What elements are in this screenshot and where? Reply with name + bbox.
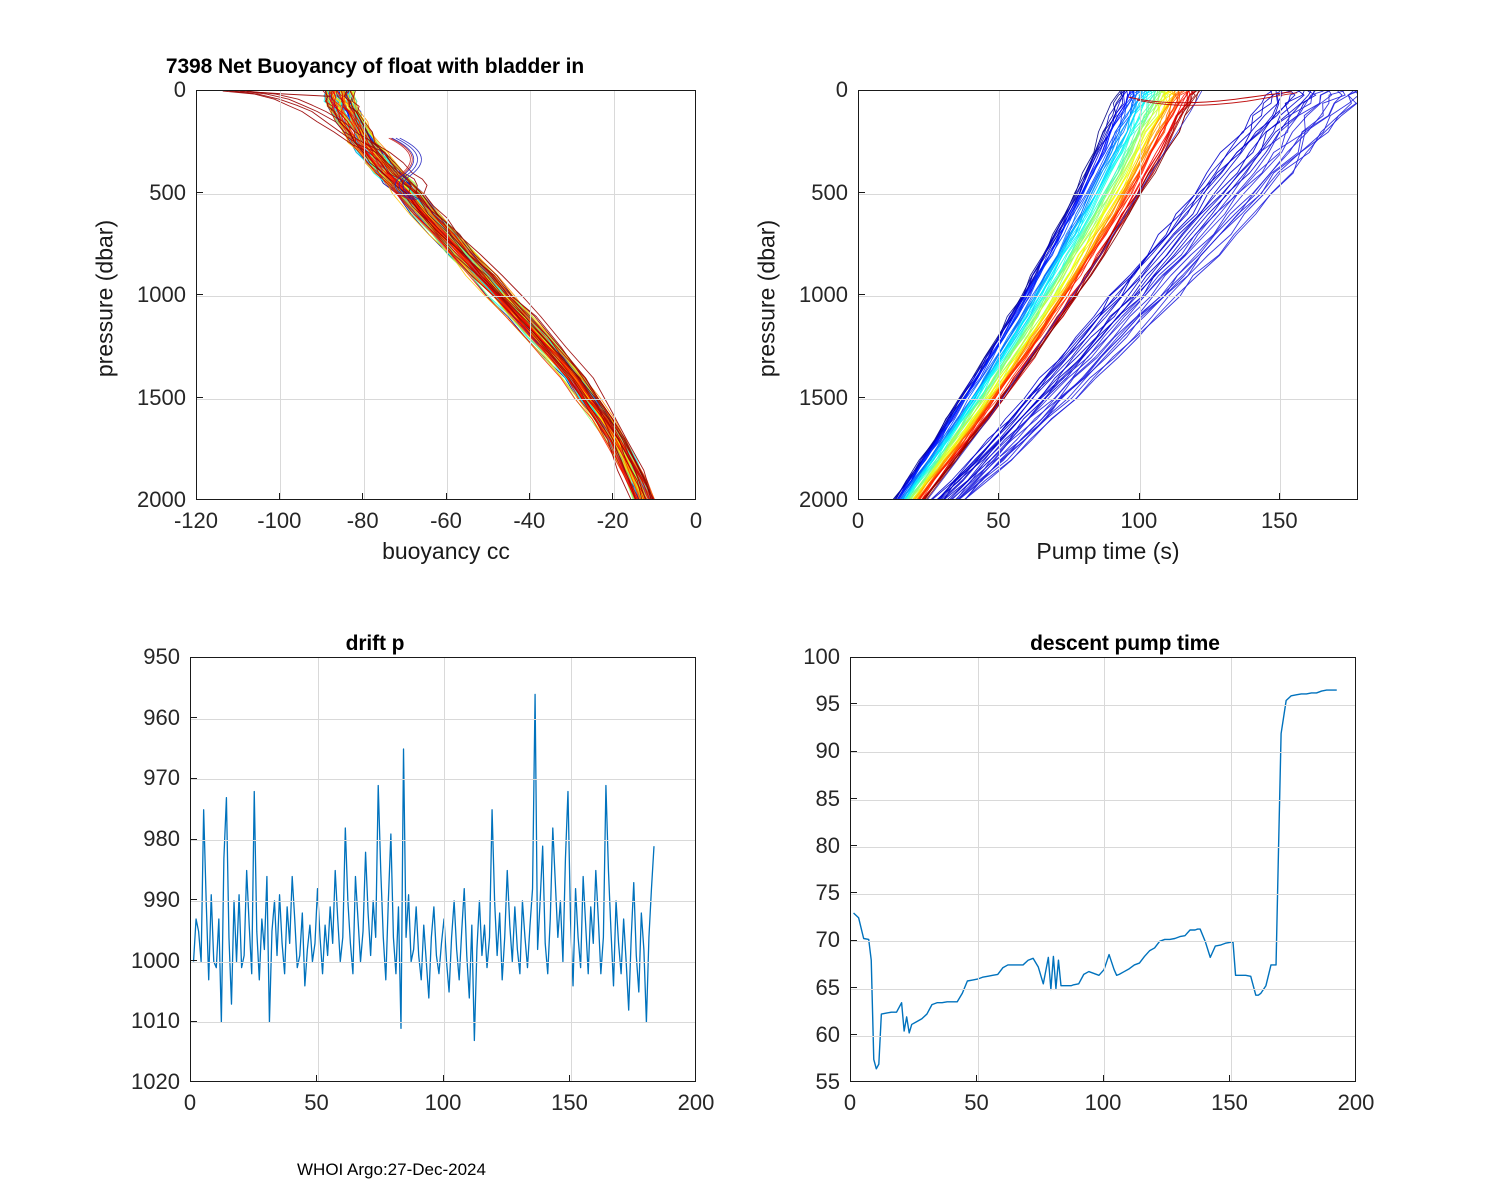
x-tick-label: 150: [1211, 1090, 1248, 1116]
tick-mark: [190, 778, 197, 779]
gridline-vertical: [530, 91, 531, 499]
y-tick-label: 990: [90, 887, 180, 913]
net-buoyancy-title: 7398 Net Buoyancy of float with bladder …: [0, 55, 800, 79]
x-tick-label: 50: [964, 1090, 988, 1116]
tick-mark: [190, 839, 197, 840]
tick-mark: [190, 960, 197, 961]
y-tick-label: 1010: [90, 1008, 180, 1034]
y-tick-label: 1020: [90, 1069, 180, 1095]
tick-mark: [850, 940, 857, 941]
gridline-horizontal: [851, 800, 1355, 801]
y-tick-label: 80: [760, 833, 840, 859]
tick-mark: [1279, 493, 1280, 500]
gridline-vertical: [1280, 91, 1281, 499]
net-buoyancy-plot-area: [196, 90, 696, 500]
tick-mark: [612, 493, 613, 500]
gridline-horizontal: [851, 1036, 1355, 1037]
y-tick-label: 65: [760, 975, 840, 1001]
gridline-horizontal: [191, 840, 695, 841]
y-tick-label: 1000: [90, 948, 180, 974]
gridline-horizontal: [197, 194, 695, 195]
gridline-vertical: [978, 658, 979, 1081]
gridline-horizontal: [851, 989, 1355, 990]
tick-mark: [850, 703, 857, 704]
y-tick-label: 85: [760, 786, 840, 812]
x-tick-label: 200: [678, 1090, 715, 1116]
gridline-horizontal: [191, 901, 695, 902]
gridline-horizontal: [191, 719, 695, 720]
tick-mark: [443, 1075, 444, 1082]
y-tick-label: 75: [760, 880, 840, 906]
tick-mark: [190, 717, 197, 718]
panel-pump-time: 0 500 1000 1500 2000 0 50 100 150 Pump t…: [750, 0, 1500, 600]
panel-descent-pump-time: descent pump time 100 95 90 85: [750, 600, 1500, 1200]
y-tick-label: 95: [760, 691, 840, 717]
tick-mark: [569, 1075, 570, 1082]
x-tick-label: 150: [551, 1090, 588, 1116]
y-tick-label: 0: [772, 77, 848, 103]
tick-mark: [1103, 1075, 1104, 1082]
x-tick-label: 200: [1338, 1090, 1375, 1116]
y-tick-label: 90: [760, 738, 840, 764]
x-tick-label: 50: [986, 508, 1010, 534]
gridline-vertical: [999, 91, 1000, 499]
gridline-vertical: [318, 658, 319, 1081]
tick-mark: [850, 892, 857, 893]
tick-mark: [976, 1075, 977, 1082]
tick-mark: [850, 751, 857, 752]
tick-mark: [529, 493, 530, 500]
gridline-horizontal: [191, 1022, 695, 1023]
pump-time-xlabel: Pump time (s): [858, 538, 1358, 565]
x-tick-label: -40: [513, 508, 545, 534]
tick-mark: [362, 493, 363, 500]
net-buoyancy-ylabel: pressure (dbar): [92, 149, 119, 449]
gridline-horizontal: [859, 194, 1357, 195]
tick-mark: [850, 1034, 857, 1035]
x-tick-label: -100: [257, 508, 301, 534]
y-tick-label: 55: [760, 1069, 840, 1095]
tick-mark: [1139, 493, 1140, 500]
panel-drift-p: drift p 950 960 970 980 990 1000 1010 10: [0, 600, 750, 1200]
y-tick-label: 1500: [772, 385, 848, 411]
y-tick-label: 960: [90, 705, 180, 731]
gridline-vertical: [447, 91, 448, 499]
y-tick-label: 1000: [772, 282, 848, 308]
y-tick-label: 980: [90, 826, 180, 852]
gridline-vertical: [1140, 91, 1141, 499]
gridline-horizontal: [851, 705, 1355, 706]
y-tick-label: 1000: [110, 282, 186, 308]
y-tick-label: 970: [90, 765, 180, 791]
y-tick-label: 500: [110, 180, 186, 206]
gridline-horizontal: [859, 399, 1357, 400]
tick-mark: [279, 493, 280, 500]
tick-mark: [858, 192, 865, 193]
x-tick-label: 0: [184, 1090, 196, 1116]
gridline-horizontal: [859, 296, 1357, 297]
tick-mark: [850, 987, 857, 988]
x-tick-label: 100: [1121, 508, 1158, 534]
panel-net-buoyancy: 7398 Net Buoyancy of float with bladder …: [0, 0, 750, 600]
gridline-horizontal: [851, 894, 1355, 895]
tick-mark: [190, 1021, 197, 1022]
gridline-horizontal: [191, 779, 695, 780]
gridline-vertical: [364, 91, 365, 499]
y-tick-label: 0: [110, 77, 186, 103]
tick-mark: [446, 493, 447, 500]
x-tick-label: -120: [174, 508, 218, 534]
x-tick-label: 0: [690, 508, 702, 534]
tick-mark: [1229, 1075, 1230, 1082]
y-tick-label: 1500: [110, 385, 186, 411]
x-tick-label: 150: [1261, 508, 1298, 534]
x-tick-label: -20: [597, 508, 629, 534]
drift-p-plot-area: [190, 657, 696, 1082]
tick-mark: [850, 845, 857, 846]
figure-footer: WHOI Argo:27-Dec-2024: [297, 1160, 486, 1180]
x-tick-label: 0: [844, 1090, 856, 1116]
tick-mark: [190, 899, 197, 900]
gridline-vertical: [1231, 658, 1232, 1081]
tick-mark: [998, 493, 999, 500]
y-tick-label: 100: [760, 644, 840, 670]
tick-mark: [196, 294, 203, 295]
gridline-horizontal: [191, 962, 695, 963]
x-tick-label: 100: [1085, 1090, 1122, 1116]
tick-mark: [196, 192, 203, 193]
y-tick-label: 950: [90, 644, 180, 670]
y-tick-label: 500: [772, 180, 848, 206]
gridline-horizontal: [851, 847, 1355, 848]
gridline-horizontal: [851, 941, 1355, 942]
net-buoyancy-xlabel: buoyancy cc: [196, 538, 696, 565]
pump-time-ylabel: pressure (dbar): [754, 149, 781, 449]
tick-mark: [316, 1075, 317, 1082]
gridline-horizontal: [851, 752, 1355, 753]
gridline-vertical: [280, 91, 281, 499]
x-tick-label: 0: [852, 508, 864, 534]
tick-mark: [858, 397, 865, 398]
x-tick-label: 50: [304, 1090, 328, 1116]
gridline-vertical: [614, 91, 615, 499]
x-tick-label: -60: [430, 508, 462, 534]
y-tick-label: 60: [760, 1022, 840, 1048]
descent-pump-time-plot-area: [850, 657, 1356, 1082]
gridline-horizontal: [197, 399, 695, 400]
gridline-vertical: [444, 658, 445, 1081]
pump-time-plot-area: [858, 90, 1358, 500]
gridline-vertical: [1104, 658, 1105, 1081]
matlab-figure: 7398 Net Buoyancy of float with bladder …: [0, 0, 1500, 1200]
y-tick-label: 70: [760, 927, 840, 953]
tick-mark: [850, 798, 857, 799]
tick-mark: [858, 294, 865, 295]
tick-mark: [196, 397, 203, 398]
y-tick-label: 2000: [772, 487, 848, 513]
x-tick-label: 100: [425, 1090, 462, 1116]
gridline-vertical: [571, 658, 572, 1081]
gridline-horizontal: [197, 296, 695, 297]
x-tick-label: -80: [347, 508, 379, 534]
